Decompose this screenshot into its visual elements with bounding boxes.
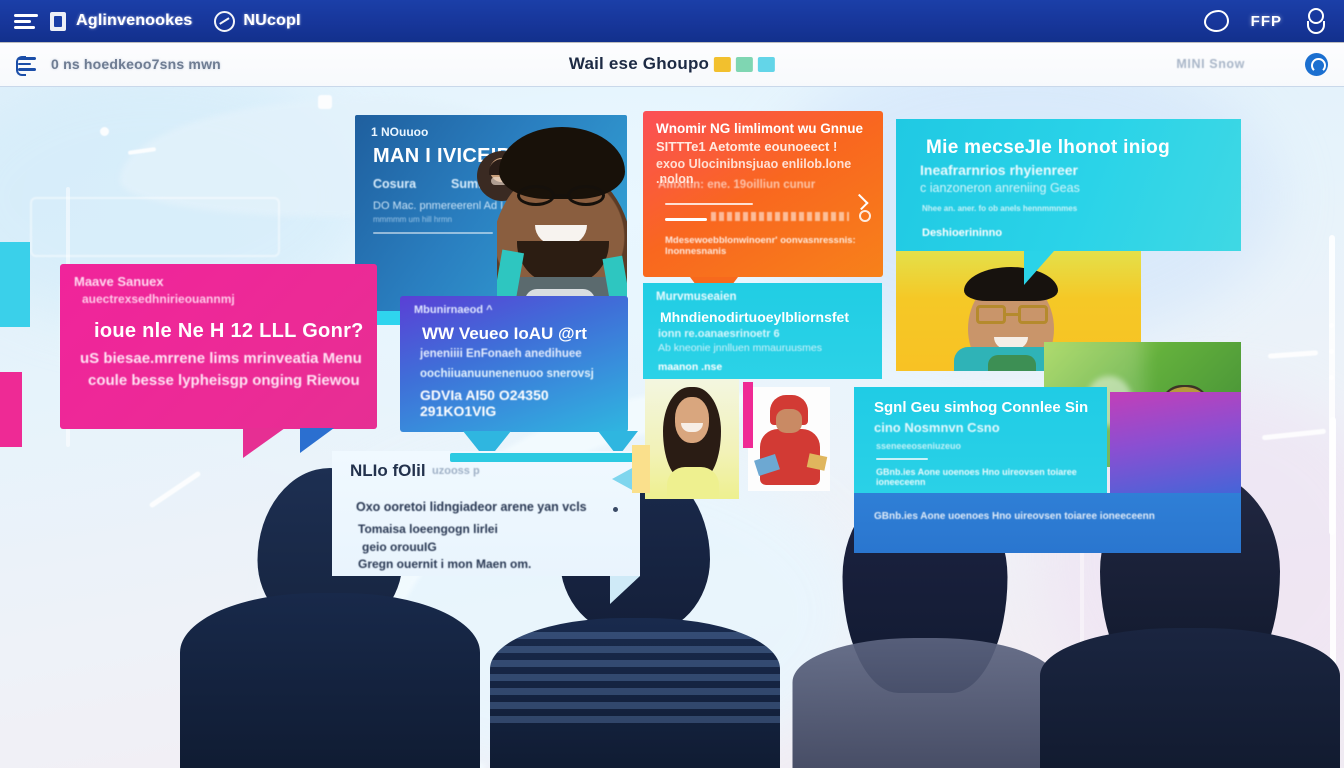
card-line-2: jeneniiii EnFonaeh anedihuee (420, 348, 582, 360)
nav-mid-group[interactable]: NUcopI (214, 11, 300, 32)
card-blue-wide-panel[interactable]: GBnb.ies Aone uoenoes Hno uireovsen toia… (854, 493, 1241, 553)
silhouette-body (793, 638, 1058, 768)
scrollbar-rail[interactable] (1329, 235, 1335, 535)
card-title: Wnomir NG limlimont wu Gnnue (656, 121, 875, 137)
rail-dot-icon (1329, 349, 1334, 354)
chip-yellow-icon (714, 57, 731, 72)
rail-dot-icon (1329, 323, 1334, 328)
card-subtext: Amxitin: ene. 19oilliun cunur (658, 179, 815, 191)
accent-bar (450, 453, 640, 462)
card-blue-profile[interactable]: 1 NOuuoo MAN I IVICEIB Cosura Sumno) DO … (355, 115, 627, 311)
card-line-2: Tomaisa loeengogn lirlei (358, 522, 498, 536)
silhouette-body (1040, 628, 1340, 768)
card-portrait-woman[interactable] (645, 379, 739, 499)
card-line-3: coule besse lypheisgp onging Riewou (88, 372, 360, 389)
card-line-3: oochiiuanuunenenuoo snerovsj (420, 368, 594, 380)
decorative-pink-bar (743, 382, 753, 448)
hamburger-lines-icon[interactable] (14, 11, 40, 31)
divider-line (665, 203, 753, 205)
bubble-tail (1024, 251, 1054, 285)
globe-slash-icon[interactable] (214, 11, 235, 32)
smiling-man-with-glasses-photo (497, 123, 627, 311)
secondary-toolbar: 0 ns hoedkeoo7sns mwn Wail ese Ghoupo MI… (0, 42, 1344, 87)
card-eyebrow: Murvmuseaien (656, 291, 737, 303)
app-badge-icon[interactable] (50, 12, 66, 31)
card-line-2: ionn re.oanaesrinoetr 6 (658, 328, 780, 340)
card-cyan-right[interactable]: Sgnl Geu simhog Connlee Sin cino Nosmnvn… (854, 387, 1107, 493)
card-title: WW Veueo IoAU @rt (422, 324, 587, 344)
divider-line (373, 232, 493, 234)
card-title: ioue nle Ne H 12 LLL Gonr? (94, 320, 364, 343)
info-circle-icon[interactable] (859, 210, 871, 222)
tick-decoration (318, 95, 332, 109)
decorative-cyan-edge (0, 242, 30, 327)
bubble-tail (610, 576, 640, 604)
divider-line (665, 218, 707, 221)
card-eyebrow: Maave Sanuex (74, 274, 164, 289)
person-pin-icon[interactable] (1304, 8, 1324, 34)
toolbar-left-label: 0 ns hoedkeoo7sns mwn (51, 56, 221, 72)
card-footer: GBnb.ies Aone uoenoes Hno uireovsen toia… (874, 511, 1229, 522)
nav-right-group: FFP (1204, 8, 1330, 34)
list-panel-icon[interactable] (16, 55, 38, 73)
bubble-tail-accent (612, 467, 634, 491)
bubble-tail-accent (300, 428, 334, 453)
card-portrait-red[interactable] (748, 387, 830, 491)
card-line-3: c ianzoneron anreniing Geas (920, 181, 1080, 195)
bubble-tail (243, 428, 285, 458)
toolbar-right-label: MINI Snow (1176, 57, 1245, 71)
card-title: Sgnl Geu simhog Connlee Sin (874, 399, 1088, 416)
card-line-4: GDVIa AI50 O24350 291KO1VIG (420, 387, 628, 419)
silhouette-body (180, 593, 480, 768)
card-eyebrow-2: auectrexsedhnirieouannmj (82, 292, 235, 306)
presentation-stage: 1 NOuuoo MAN I IVICEIB Cosura Sumno) DO … (0, 87, 1344, 768)
brand-label: Aglinvenookes (76, 12, 192, 30)
card-cyan-top[interactable]: Mie mecseJIe lhonot iniog Ineafrarnrios … (896, 119, 1241, 251)
card-title: NLIo fOlil (350, 461, 426, 481)
divider-line (876, 458, 928, 460)
toolbar-right-group: MINI Snow (1176, 53, 1328, 76)
bullet-dot-icon (613, 507, 618, 512)
card-eyebrow: 1 NOuuoo (371, 125, 428, 139)
chip-cyan-icon (758, 57, 775, 72)
card-white-note[interactable]: NLIo fOlil uzooss p Oxo ooretoi lidngiad… (332, 451, 640, 576)
tick-decoration (100, 127, 109, 136)
toolbar-title-group: Wail ese Ghoupo (569, 54, 775, 74)
card-row-text (711, 212, 849, 221)
blob-outline-icon[interactable] (1204, 10, 1229, 32)
card-line-3: geio orouuIG (362, 540, 437, 554)
silhouette-body-striped (490, 618, 780, 768)
decorative-yellow-bar (632, 445, 650, 493)
card-title: Mhndienodirtuoeylbliornsfet (660, 309, 849, 325)
card-title-faint: uzooss p (432, 465, 480, 477)
card-line-2: Ineafrarnrios rhyienreer (920, 162, 1078, 178)
card-orange-bubble[interactable]: Wnomir NG limlimont wu Gnnue SITTTe1 Aet… (643, 111, 883, 277)
card-footer: GBnb.ies Aone uoenoes Hno uireovsen toia… (876, 467, 1097, 487)
card-line-2: SITTTe1 Aetomte eounoeect ! (656, 139, 875, 155)
card-line-2: uS biesae.mrrene lims mrinveatia Menu (80, 350, 362, 367)
card-small-text: Nhee an. aner. fo ob anels hennmmnmes (922, 204, 1077, 213)
chip-green-icon (736, 57, 753, 72)
card-pink-bubble[interactable]: Maave Sanuex auectrexsedhnirieouannmj io… (60, 264, 377, 429)
person-in-red-jacket-photo (748, 387, 830, 491)
card-eyebrow: Mbunirnaeod ^ (414, 304, 493, 316)
nav-right-label: FFP (1251, 13, 1282, 30)
top-navigation-bar: Aglinvenookes NUcopI FFP (0, 0, 1344, 42)
tick-decoration (1268, 350, 1318, 358)
card-title: Mie mecseJIe lhonot iniog (926, 137, 1170, 159)
decorative-pink-edge (0, 372, 22, 447)
card-line-4: Gregn ouernit i mon Maen om. (358, 557, 531, 571)
rail-dot-icon (1329, 375, 1334, 380)
card-small-text: sseneeeoseniuzeuo (876, 441, 961, 451)
card-meta-left: Cosura (373, 177, 416, 191)
user-avatar-icon[interactable] (1305, 53, 1328, 76)
card-blue-gradient-bubble[interactable]: Mbunirnaeod ^ WW Veueo IoAU @rt jeneniii… (400, 296, 628, 432)
arrow-right-icon[interactable] (852, 194, 868, 210)
page-title: Wail ese Ghoupo (569, 54, 709, 74)
nav-mid-label: NUcopI (243, 12, 300, 30)
card-cyan-mid[interactable]: Murvmuseaien Mhndienodirtuoeylbliornsfet… (643, 283, 882, 379)
card-footer: Deshioerininno (922, 227, 1002, 239)
card-footer: Mdesewoebblonwinoenr' oonvasnressnis: ln… (665, 235, 873, 257)
card-line-2: cino Nosmnvn Csno (874, 420, 1000, 435)
card-line-1: Oxo ooretoi lidngiadeor arene yan vcls (356, 500, 587, 514)
card-footer: maanon .nse (658, 361, 722, 373)
card-line-3: Ab kneonie jnnlluen mmauruusmes (658, 342, 822, 354)
card-body-2: mmmmm um hill hrmn (373, 215, 452, 224)
nav-left-group: Aglinvenookes (14, 11, 192, 31)
smiling-woman-photo (645, 379, 739, 499)
